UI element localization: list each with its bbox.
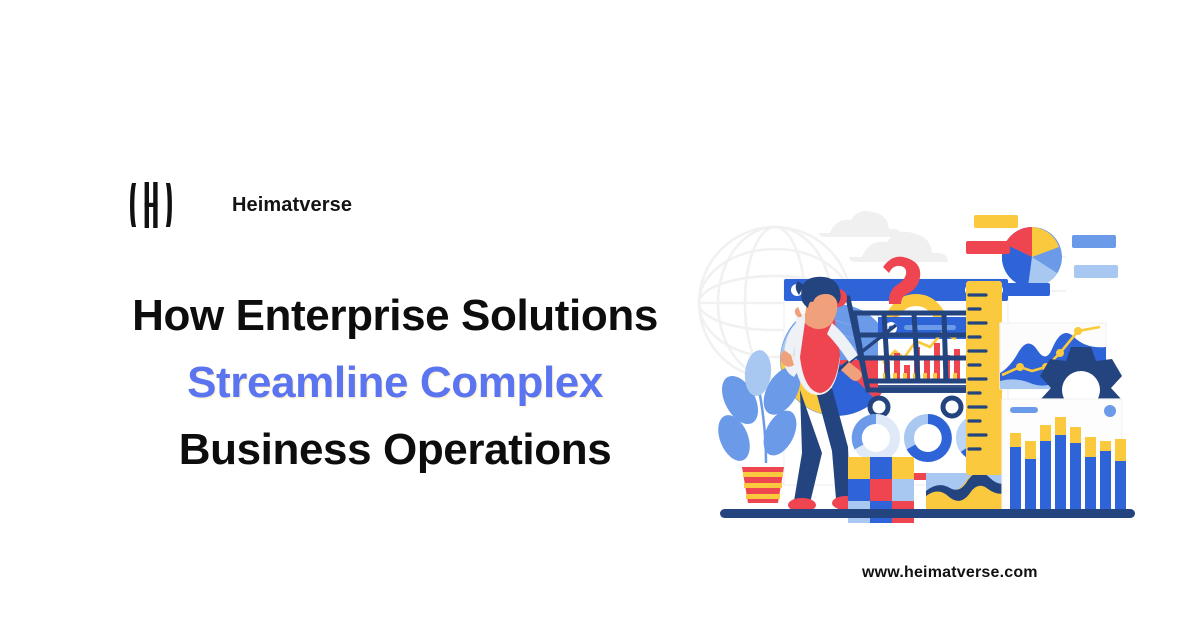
blog-banner: Heimatverse How Enterprise Solutions Str…	[0, 0, 1200, 627]
bar-card-dot	[1104, 405, 1116, 417]
legend-swatch-red	[966, 241, 1010, 254]
legend-swatch-yellow	[974, 215, 1018, 228]
site-url: www.heimatverse.com	[862, 564, 1038, 582]
ground-line	[720, 509, 1135, 518]
headline-line-2: Streamline Complex	[100, 350, 690, 417]
business-analytics-ecommerce-illustration	[680, 195, 1150, 535]
headline-line-3: Business Operations	[100, 417, 690, 484]
bar-chart-card	[1002, 399, 1126, 513]
brand-name: Heimatverse	[232, 194, 352, 217]
heimatverse-h-monogram-icon	[128, 180, 174, 230]
wave-chart-card	[926, 472, 1012, 513]
page-title: How Enterprise Solutions Streamline Comp…	[100, 283, 690, 484]
bar-card-title-bar	[1010, 407, 1038, 413]
legend-swatch-lightblue	[1072, 235, 1116, 248]
brand-lockup: Heimatverse	[128, 180, 352, 230]
headline-line-1: How Enterprise Solutions	[100, 283, 690, 350]
cloud-icon	[819, 211, 948, 262]
legend-swatch-blue	[1006, 283, 1050, 296]
legend-swatch-paleblue	[1074, 265, 1118, 278]
ruler-icon	[966, 281, 1002, 475]
